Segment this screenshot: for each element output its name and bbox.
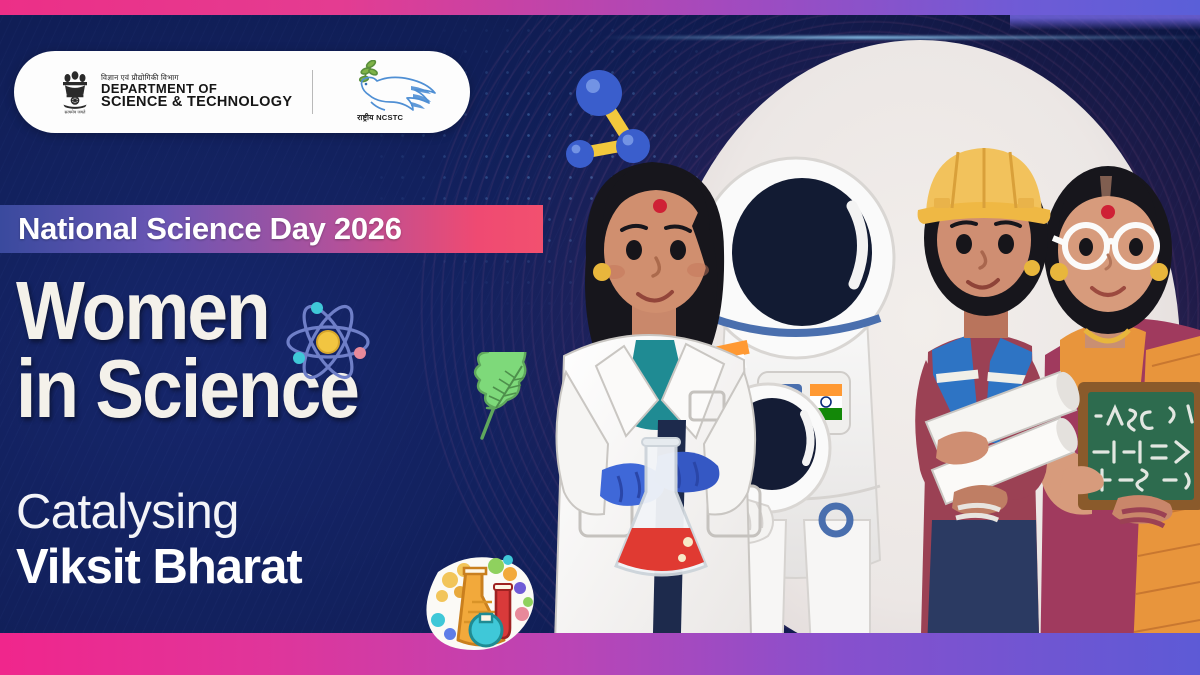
leaf-icon: [466, 352, 536, 448]
poster-canvas: सत्यमेव जयते विज्ञान एवं प्रौद्योगिकी वि…: [0, 0, 1200, 675]
top-gradient-bar: [0, 0, 1200, 15]
dst-line-2: SCIENCE & TECHNOLOGY: [101, 95, 292, 110]
national-science-day-banner: National Science Day 2026: [0, 205, 543, 253]
headline-line-1: Women: [16, 272, 269, 350]
ncstc-logo-group: राष्ट्रीय NCSTC: [335, 60, 453, 124]
dst-logo-group: सत्यमेव जयते विज्ञान एवं प्रौद्योगिकी वि…: [14, 69, 292, 115]
logo-bar: सत्यमेव जयते विज्ञान एवं प्रौद्योगिकी वि…: [14, 51, 470, 133]
india-state-emblem-icon: सत्यमेव जयते: [58, 69, 92, 115]
dst-line-1: DEPARTMENT OF: [101, 82, 292, 95]
chemistry-flask-icon: [424, 548, 540, 652]
atom-icon: [282, 296, 374, 388]
page-title: Women in Science: [16, 272, 536, 428]
ncstc-caption: राष्ट्रीय NCSTC: [357, 113, 403, 123]
bottom-gradient-bar: [0, 633, 1200, 675]
headline-row-1: Women: [16, 272, 536, 350]
headline-row-2: in Science: [16, 350, 536, 428]
molecule-icon: [552, 60, 672, 180]
dst-text-block: विज्ञान एवं प्रौद्योगिकी विभाग DEPARTMEN…: [101, 74, 292, 110]
national-science-day-label: National Science Day 2026: [0, 211, 402, 247]
logo-divider: [312, 70, 313, 114]
chalkboard: [1060, 382, 1200, 526]
emblem-motto: सत्यमेव जयते: [65, 109, 86, 114]
subtitle-light-line: Catalysing: [16, 487, 536, 539]
